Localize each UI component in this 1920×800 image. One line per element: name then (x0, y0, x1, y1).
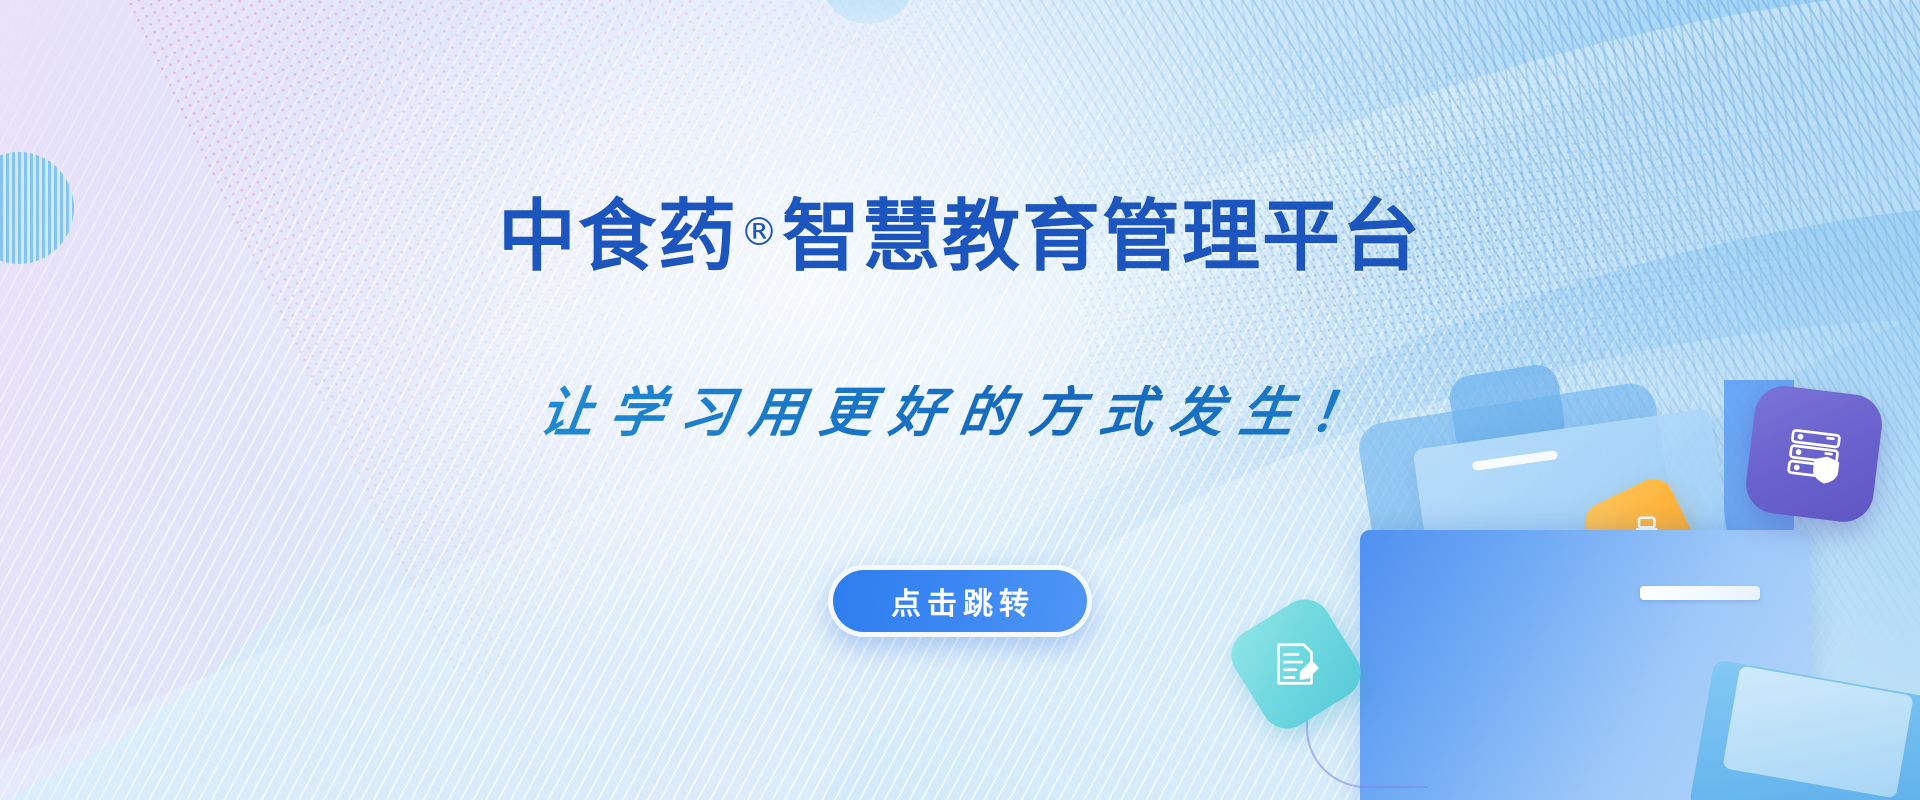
banner-content: 中食药®智慧教育管理平台 让学习用更好的方式发生！ 点击跳转 (0, 0, 1920, 800)
page-subtitle: 让学习用更好的方式发生！ (0, 385, 1920, 439)
title-brand: 中食药 (498, 192, 738, 282)
registered-mark-icon: ® (740, 210, 780, 254)
hero-banner: 中食药®智慧教育管理平台 让学习用更好的方式发生！ 点击跳转 (0, 0, 1920, 800)
jump-button[interactable]: 点击跳转 (828, 565, 1092, 637)
title-rest: 智慧教育管理平台 (782, 192, 1422, 282)
page-title: 中食药®智慧教育管理平台 (0, 198, 1920, 276)
cta-container: 点击跳转 (0, 565, 1920, 637)
